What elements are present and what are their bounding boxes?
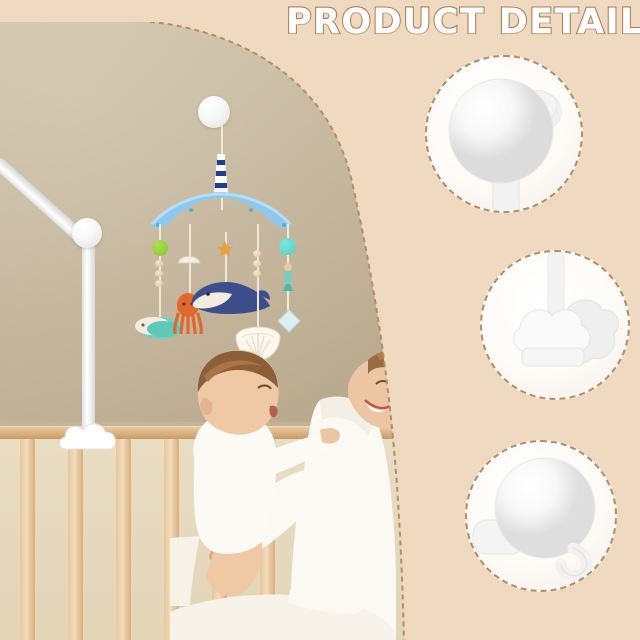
cloud-clamp-icon <box>56 417 122 455</box>
green-pom-pom <box>152 240 168 256</box>
callout-caption-capacity: Arm weight capacity 3lbs <box>420 586 640 626</box>
callout-caption-rotation: Rotates 360 degrees <box>415 210 640 230</box>
bead <box>155 280 163 287</box>
callout-image-grip <box>480 250 630 400</box>
ball-joint-closeup-icon <box>427 57 583 213</box>
mobile-arm-post <box>82 230 95 445</box>
callout-caption-capacity-line1: Arm weight <box>420 586 640 606</box>
bead <box>253 250 261 257</box>
ball-hook-closeup-icon <box>467 442 617 592</box>
teal-pom-pom <box>279 238 296 255</box>
toy-string-4 <box>257 224 259 336</box>
kite-shell-toy <box>276 308 302 334</box>
page-title: PRODUCT DETAILS <box>286 2 640 42</box>
callout-image-rotation <box>425 55 583 213</box>
product-detail-image: PRODUCT DETAILS Rotates 360 degrees <box>0 0 640 640</box>
small-shell-toy <box>176 250 202 266</box>
callout-caption-capacity-line2: capacity 3lbs <box>420 606 640 626</box>
starfish-toy <box>216 240 234 258</box>
callout-image-capacity <box>465 440 617 592</box>
mobile-canopy <box>146 190 296 232</box>
sand-bead <box>250 288 264 301</box>
top-ball-joint <box>198 96 230 128</box>
callout-caption-grip: Non-slip design <box>420 388 640 408</box>
bead <box>155 270 163 277</box>
elbow-ball-joint <box>72 218 102 248</box>
bead <box>155 260 163 267</box>
bead <box>253 270 261 277</box>
bead <box>253 260 261 267</box>
mermaid-bead-toy <box>281 262 295 292</box>
cloud-clamp-closeup-icon <box>482 252 630 400</box>
